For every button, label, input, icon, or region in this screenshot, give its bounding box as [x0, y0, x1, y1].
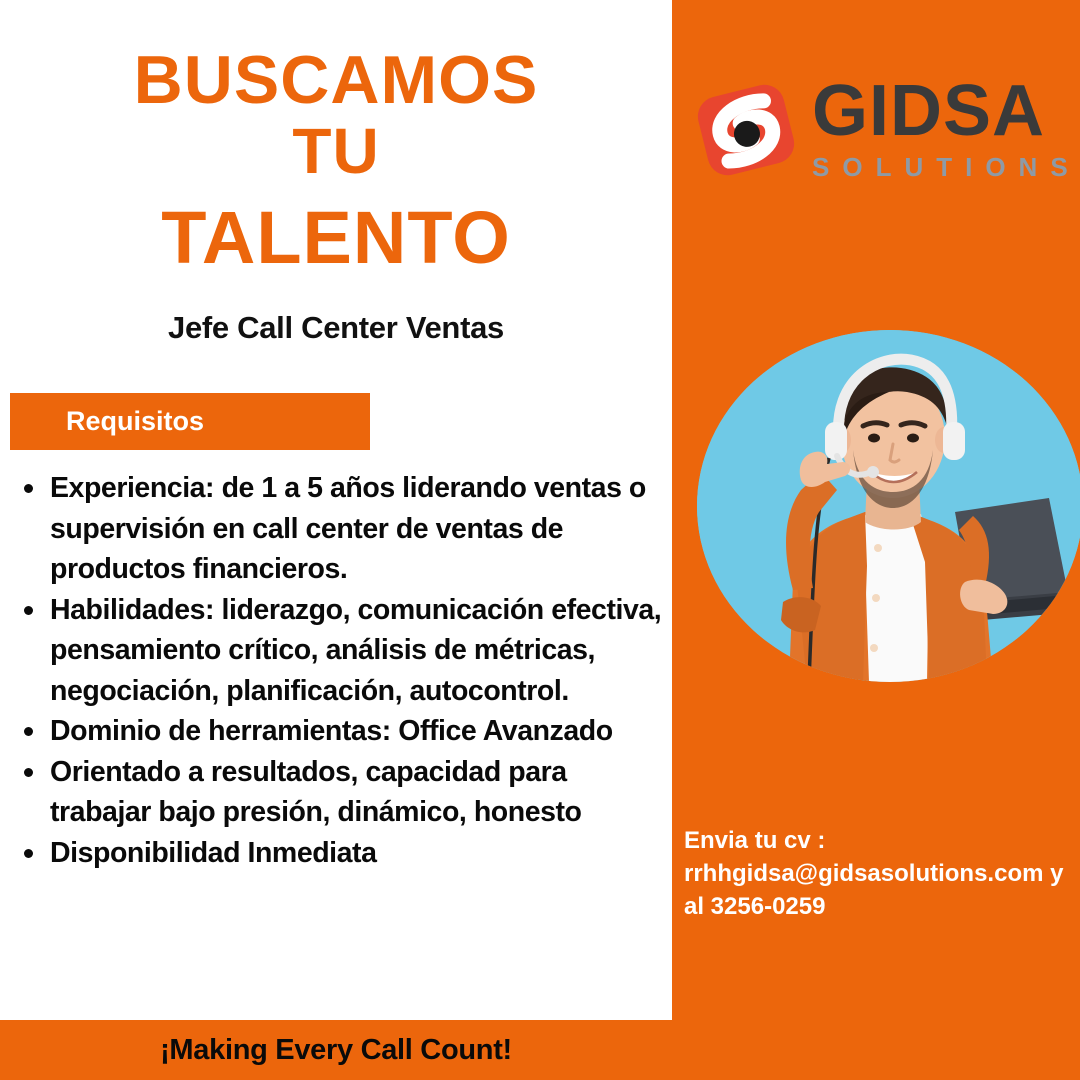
list-item-text: Orientado a resultados, capacidad para t… — [50, 756, 582, 829]
bullet-icon — [24, 768, 33, 777]
job-posting-poster: GIDSA SOLUTIONS — [0, 0, 1080, 1080]
bullet-icon — [24, 727, 33, 736]
requirements-list: Experiencia: de 1 a 5 años liderando ven… — [14, 468, 672, 873]
headline-line-3: TALENTO — [0, 194, 672, 282]
list-item-text: Disponibilidad Inmediata — [50, 837, 376, 869]
list-item: Orientado a resultados, capacidad para t… — [14, 752, 672, 833]
brand-wordmark: GIDSA SOLUTIONS — [812, 72, 1064, 182]
requirements-badge: Requisitos — [10, 393, 370, 450]
contact-email[interactable]: rrhhgidsa@gidsasolutions.com y — [684, 857, 1066, 890]
bullet-icon — [24, 606, 33, 615]
brand-logo[interactable]: GIDSA SOLUTIONS — [694, 72, 1064, 190]
gidsa-swirl-logo-icon — [694, 78, 798, 182]
list-item-text: Experiencia: de 1 a 5 años liderando ven… — [50, 472, 646, 585]
call-center-agent-photo — [697, 330, 1080, 682]
headline-line-2: TU — [0, 116, 672, 186]
list-item: Experiencia: de 1 a 5 años liderando ven… — [14, 468, 672, 590]
list-item: Dominio de herramientas: Office Avanzado — [14, 711, 672, 752]
headline-line-1: BUSCAMOS — [0, 44, 672, 116]
footer-slogan: ¡Making Every Call Count! — [0, 1020, 672, 1080]
list-item-text: Habilidades: liderazgo, comunicación efe… — [50, 594, 661, 707]
list-item-text: Dominio de herramientas: Office Avanzado — [50, 715, 613, 747]
job-position-title: Jefe Call Center Ventas — [0, 308, 672, 348]
page-title: BUSCAMOS TU TALENTO — [0, 44, 672, 282]
bullet-icon — [24, 849, 33, 858]
bullet-icon — [24, 484, 33, 493]
contact-phone[interactable]: al 3256-0259 — [684, 890, 1066, 923]
brand-name-text: GIDSA — [812, 72, 1064, 150]
brand-tagline-text: SOLUTIONS — [812, 152, 1064, 182]
contact-line-heading: Envia tu cv : — [684, 824, 1066, 857]
list-item: Habilidades: liderazgo, comunicación efe… — [14, 590, 672, 712]
list-item: Disponibilidad Inmediata — [14, 833, 672, 874]
contact-info: Envia tu cv : rrhhgidsa@gidsasolutions.c… — [684, 824, 1066, 923]
requirements-badge-label: Requisitos — [66, 406, 204, 437]
